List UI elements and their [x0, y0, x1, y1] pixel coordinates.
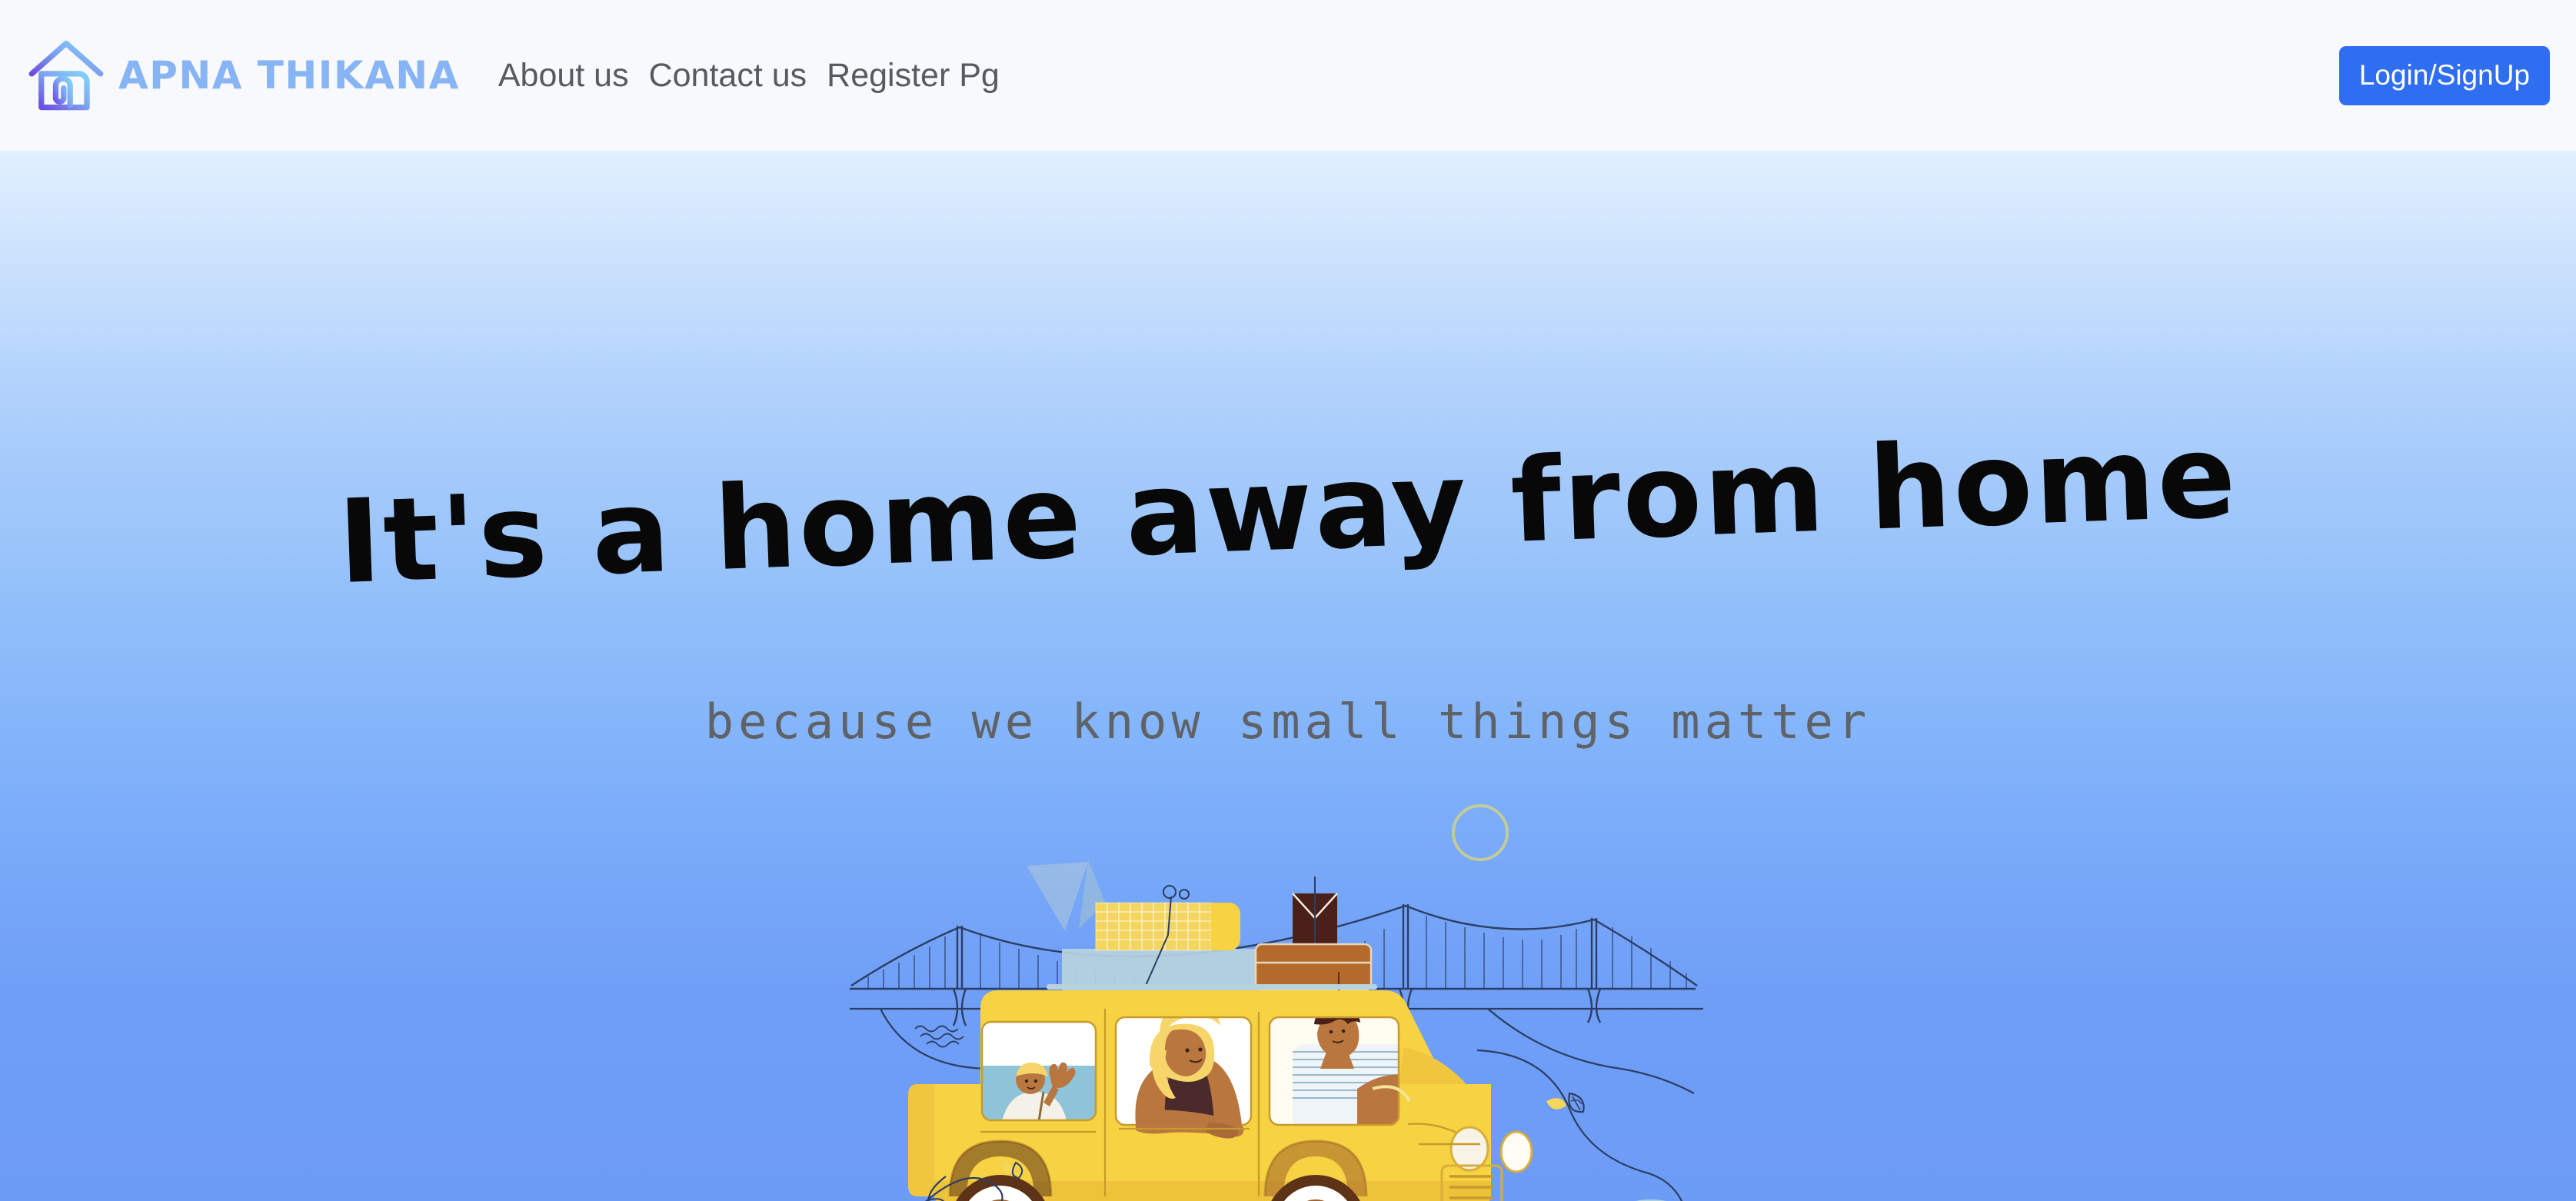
- login-signup-button[interactable]: Login/SignUp: [2339, 46, 2550, 105]
- hero-headline: It's a home away from home: [0, 402, 2576, 619]
- top-navbar: APNA THIKANA About us Contact us Registe…: [0, 0, 2576, 151]
- nav-link-contact-us[interactable]: Contact us: [649, 59, 807, 92]
- brand-logo[interactable]: APNA THIKANA: [26, 35, 460, 115]
- decorative-circle-icon: [1452, 804, 1509, 861]
- house-outline-icon: [26, 35, 106, 115]
- brand-name: APNA THIKANA: [118, 56, 460, 95]
- hero-subtitle: because we know small things matter: [0, 698, 2576, 746]
- hero-section: It's a home away from home because we kn…: [0, 151, 2576, 1201]
- nav-link-about-us[interactable]: About us: [498, 59, 629, 92]
- primary-navigation: About us Contact us Register Pg: [498, 59, 1000, 92]
- nav-link-register-pg[interactable]: Register Pg: [827, 59, 1000, 92]
